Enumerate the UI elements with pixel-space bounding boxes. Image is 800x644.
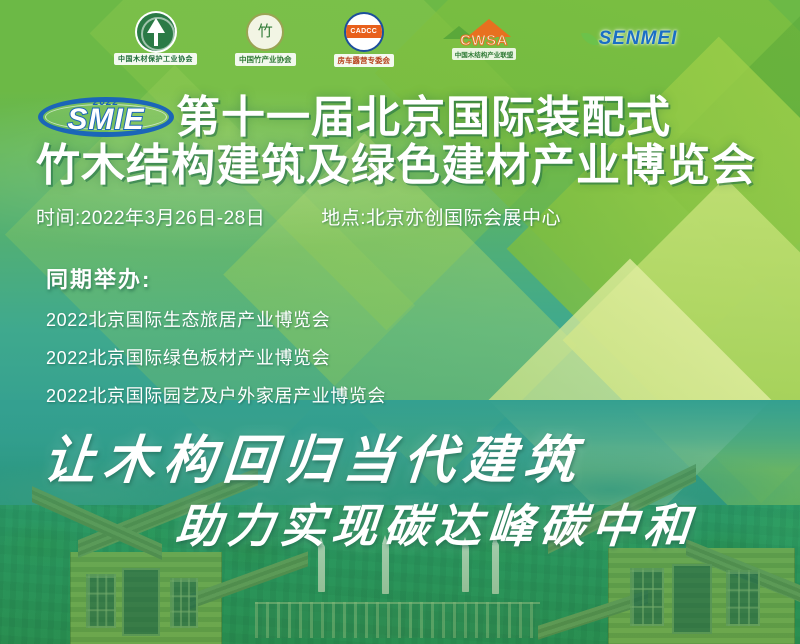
concurrent-event-item: 2022北京国际生态旅居产业博览会: [46, 306, 386, 332]
cadcc-roundel-icon: CADCC: [344, 12, 384, 52]
concurrent-event-item: 2022北京国际绿色板材产业博览会: [46, 344, 386, 370]
sponsor-label: 中国木结构产业联盟: [452, 48, 517, 60]
headline-line-2: 竹木结构建筑及绿色建材产业博览会: [36, 144, 756, 188]
roundel-ring-icon: [141, 17, 175, 51]
sponsor-logo-row: 中国木材保护工业协会 竹 中国竹产业协会 CADCC 房车露营专委会 CWSA …: [0, 8, 800, 70]
concurrent-event-item: 2022北京国际园艺及户外家居产业博览会: [46, 382, 386, 408]
sponsor-logo-senmei[interactable]: SENMEI: [574, 25, 686, 53]
senmei-mark: SENMEI: [581, 25, 680, 53]
cadcc-band: CADCC: [346, 25, 382, 38]
sponsor-logo-cwsa[interactable]: CWSA 中国木结构产业联盟: [432, 19, 536, 60]
bamboo-roundel-icon: 竹: [246, 13, 284, 51]
slogan-line-2: 助力实现碳达峰碳中和: [173, 490, 699, 556]
slogan-line-1: 让木构回归当代建筑: [41, 418, 588, 493]
sponsor-label: 中国竹产业协会: [235, 53, 296, 66]
headline-line-1: 第十一届北京国际装配式: [176, 96, 671, 140]
cadcc-acronym: CADCC: [350, 28, 377, 35]
concurrent-events: 同期举办: 2022北京国际生态旅居产业博览会 2022北京国际绿色板材产业博览…: [46, 262, 386, 420]
leaf-icon: [580, 29, 598, 49]
sponsor-logo-china-wood-protection[interactable]: 中国木材保护工业协会: [114, 13, 197, 65]
event-meta: 时间:2022年3月26日-28日 地点:北京亦创国际会展中心: [36, 203, 561, 230]
sponsor-label: SENMEI: [599, 28, 678, 50]
exhibition-poster: 中国木材保护工业协会 竹 中国竹产业协会 CADCC 房车露营专委会 CWSA …: [0, 0, 800, 644]
bamboo-glyph-icon: 竹: [258, 24, 273, 39]
house-roof-icon: CWSA: [441, 19, 527, 49]
concurrent-events-title: 同期举办:: [46, 262, 386, 294]
smie-logo[interactable]: 2022 SMIE: [36, 93, 176, 141]
sponsor-logo-cadcc[interactable]: CADCC 房车露营专委会: [334, 12, 395, 67]
event-date: 时间:2022年3月26日-28日: [36, 203, 265, 230]
sponsor-logo-bamboo-association[interactable]: 竹 中国竹产业协会: [235, 13, 296, 66]
smie-year: 2022: [36, 97, 176, 108]
sponsor-label: 中国木材保护工业协会: [114, 53, 197, 65]
smie-wordmark: SMIE: [36, 105, 176, 135]
sponsor-label: 房车露营专委会: [334, 54, 395, 67]
pine-tree-roundel-icon: [137, 13, 175, 51]
cwsa-acronym: CWSA: [441, 32, 527, 49]
event-venue: 地点:北京亦创国际会展中心: [321, 203, 561, 230]
